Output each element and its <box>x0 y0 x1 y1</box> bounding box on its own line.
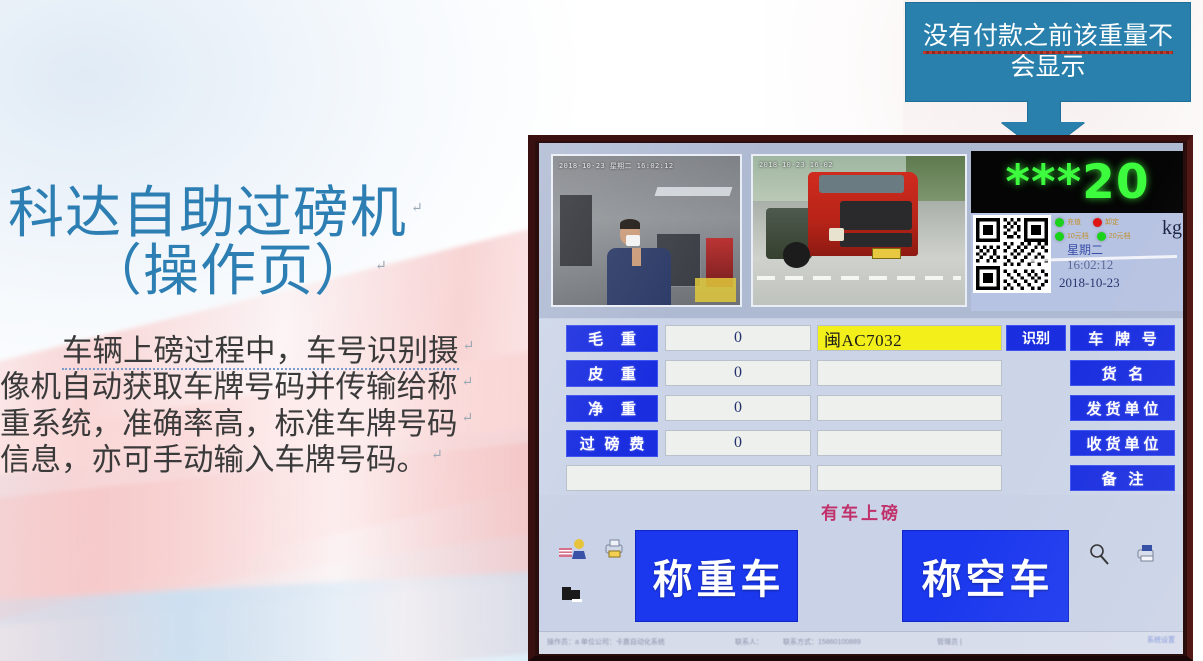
field-label-gross-weight: 毛 重 <box>566 325 658 352</box>
truck-camera-feed: 2018-10-23 16:02 <box>751 154 967 307</box>
table-row: 皮 重 0 货 名 <box>539 360 1183 390</box>
table-row: 过 磅 费 0 收货单位 <box>539 430 1183 460</box>
recognize-button[interactable]: 识别 <box>1006 325 1066 351</box>
weighing-form: 毛 重 0 闽AC7032 识别 车 牌 号 皮 重 0 货 名 净 重 0 发… <box>539 319 1183 495</box>
date-label: 2018-10-23 <box>1059 275 1120 291</box>
annotation-callout-text: 没有付款之前该重量不 会显示 <box>917 21 1179 84</box>
status-label-tier10: 10元档 <box>1067 231 1089 241</box>
status-led-icon-recharge <box>1055 218 1064 227</box>
callout-line-2: 会显示 <box>923 52 1173 83</box>
ceiling-light <box>654 187 732 196</box>
pilcrow-b3: ↵ <box>458 411 474 426</box>
table-row: 毛 重 0 闽AC7032 识别 车 牌 号 <box>539 325 1183 355</box>
body-line-4-text: 信息，亦可手动输入车牌号码。 <box>0 443 427 477</box>
title-line-2-text: （操作页） <box>86 241 371 303</box>
status-label-tier20: 20元档 <box>1109 231 1131 241</box>
status-bar-link[interactable]: 系统设置 <box>1147 635 1175 645</box>
callout-arrow-stem <box>1027 100 1061 124</box>
shipper-input[interactable] <box>817 395 1002 421</box>
truck-wheel <box>783 242 811 267</box>
annotation-callout: 没有付款之前该重量不 会显示 <box>905 2 1191 102</box>
field-label-consignee: 收货单位 <box>1070 430 1175 456</box>
license-plate-input[interactable]: 闽AC7032 <box>817 325 1002 351</box>
body-line-3-text: 重系统，准确率高，标准车牌号码 <box>0 407 458 441</box>
led-weight-panel: ***20 <box>971 151 1183 213</box>
weigh-loaded-button[interactable]: 称重车 <box>635 530 798 622</box>
indoor-camera-feed: 2018-10-23 星期二 16:02:12 <box>551 154 742 307</box>
user-icon[interactable] <box>558 539 588 561</box>
led-weight-value: ***20 <box>1005 159 1149 206</box>
weigh-empty-button[interactable]: 称空车 <box>902 530 1069 622</box>
table-row: 净 重 0 发货单位 <box>539 395 1183 425</box>
truck-windshield <box>819 175 904 193</box>
field-value-gross-weight[interactable]: 0 <box>665 325 811 351</box>
person-hair <box>620 219 640 229</box>
table-row: 备 注 <box>539 465 1183 495</box>
body-line-3: 重系统，准确率高，标准车牌号码↵ <box>0 406 510 442</box>
weight-unit-label: kg <box>1162 217 1182 240</box>
status-message: 有车上磅 <box>539 499 1183 524</box>
document-icon[interactable] <box>560 586 584 602</box>
pilcrow-b2: ↵ <box>458 375 474 390</box>
status-bar-segment-1: 操作员：a 单位公司：卡嘉自动化系统 <box>547 637 665 647</box>
status-label-recharge: 充值 <box>1067 217 1081 227</box>
truck-headlight <box>829 228 844 241</box>
body-line-2: 像机自动获取车牌号码并传输给称↵ <box>0 369 510 405</box>
status-bar-segment-4: 管理员 | <box>937 637 962 647</box>
pilcrow-b1: ↵ <box>459 339 475 354</box>
room-object-yellow <box>695 278 736 302</box>
field-label-net-weight: 净 重 <box>566 395 658 422</box>
body-line-1-text: 车辆上磅过程中，车号识别摄 <box>62 334 459 370</box>
remark-input[interactable] <box>817 465 1002 491</box>
pilcrow-mark: ↵ <box>407 201 424 216</box>
pilcrow-mark-2: ↵ <box>371 259 388 274</box>
body-line-1: 车辆上磅过程中，车号识别摄↵ <box>0 333 510 369</box>
search-icon[interactable] <box>1088 543 1110 565</box>
camera-timestamp-overlay: 2018-10-23 星期二 16:02:12 <box>559 161 674 171</box>
person-mask <box>626 235 640 246</box>
field-label-weighing-fee: 过 磅 费 <box>566 430 658 457</box>
person-arm <box>632 248 641 266</box>
printer-icon-2[interactable] <box>1135 543 1159 563</box>
pilcrow-b4: ↵ <box>427 448 443 463</box>
goods-name-input[interactable] <box>817 360 1002 386</box>
camera-and-display-area: 2018-10-23 星期二 16:02:12 2018-10-23 16:02… <box>539 143 1183 318</box>
field-value-weighing-fee[interactable]: 0 <box>665 430 811 456</box>
page-title: 科达自助过磅机↵ （操作页）↵ <box>0 186 512 301</box>
room-door-left <box>560 195 592 267</box>
status-label-settle: 卸定 <box>1105 217 1119 227</box>
status-led-icon-tier20 <box>1097 232 1106 241</box>
action-area: 有车上磅 称重车 称空车 <box>539 495 1183 632</box>
truck-grille-lower <box>840 233 912 246</box>
truck-grille <box>840 201 912 231</box>
truck-license-plate <box>872 248 902 258</box>
field-label-remark: 备 注 <box>1070 465 1175 491</box>
empty-field-box[interactable] <box>566 465 811 491</box>
field-label-tare-weight: 皮 重 <box>566 360 658 387</box>
status-bar-segment-2: 联系人： <box>735 637 763 647</box>
status-led-icon-tier10 <box>1055 232 1064 241</box>
title-line-1: 科达自助过磅机↵ <box>0 186 512 244</box>
status-led-icon-settle <box>1093 218 1102 227</box>
printer-icon[interactable] <box>602 539 628 559</box>
title-line-2: （操作页）↵ <box>0 244 512 302</box>
title-line-1-text: 科达自助过磅机 <box>8 183 407 245</box>
body-line-4: 信息，亦可手动输入车牌号码。↵ <box>0 442 510 478</box>
truck-camera-timestamp: 2018-10-23 16:02 <box>759 161 833 169</box>
callout-line-1: 没有付款之前该重量不 <box>923 21 1173 52</box>
field-value-tare-weight[interactable]: 0 <box>665 360 811 386</box>
field-label-goods-name: 货 名 <box>1070 360 1175 386</box>
body-line-2-text: 像机自动获取车牌号码并传输给称 <box>0 370 458 404</box>
led-display-column: ***20 <box>971 151 1183 311</box>
consignee-input[interactable] <box>817 430 1002 456</box>
weighing-terminal-photo: 2018-10-23 星期二 16:02:12 2018-10-23 16:02… <box>528 135 1193 661</box>
qr-code-svg <box>976 218 1048 290</box>
terminal-screen: 2018-10-23 星期二 16:02:12 2018-10-23 16:02… <box>539 143 1183 654</box>
terminal-status-bar: 操作员：a 单位公司：卡嘉自动化系统 联系人： 联系方式：15860100889… <box>539 631 1183 654</box>
road-lane-marking <box>757 276 961 280</box>
weekday-label: 星期二 <box>1067 241 1103 258</box>
field-label-plate-number: 车 牌 号 <box>1070 325 1175 351</box>
qr-code <box>973 215 1051 293</box>
status-bar-segment-3: 联系方式：15860100889 <box>783 637 861 647</box>
body-paragraph: 车辆上磅过程中，车号识别摄↵ 像机自动获取车牌号码并传输给称↵ 重系统，准确率高… <box>0 333 510 478</box>
field-value-net-weight[interactable]: 0 <box>665 395 811 421</box>
field-label-shipper: 发货单位 <box>1070 395 1175 421</box>
